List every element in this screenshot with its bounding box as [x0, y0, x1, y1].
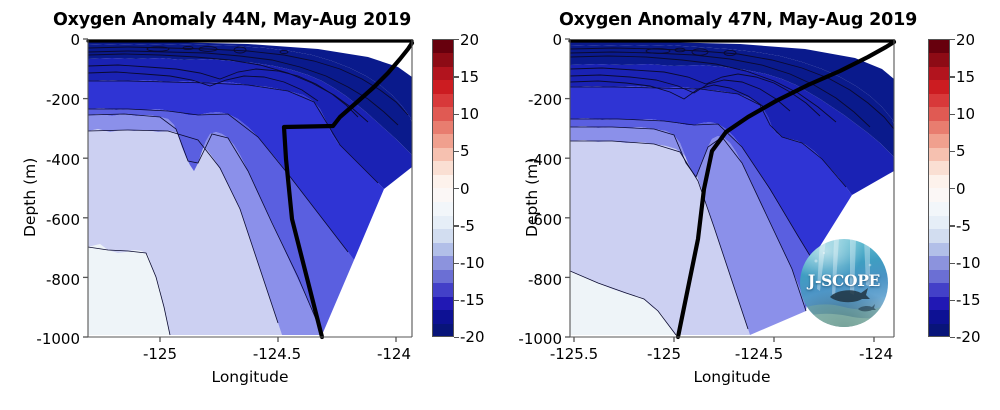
x-tick-label: -125.5 — [538, 345, 610, 363]
colorbar-tick-label: 5 — [956, 142, 996, 160]
colorbar-tick-label: 5 — [460, 142, 500, 160]
x-tick-label: -125 — [634, 345, 694, 363]
colorbar-tick-mark — [950, 114, 955, 115]
colorbar-tick-mark — [950, 300, 955, 301]
x-tick-label: -124 — [364, 345, 424, 363]
colorbar-tick-label: 10 — [956, 105, 996, 123]
y-tick-label: -1000 — [8, 330, 80, 348]
y-tick-label: -800 — [14, 271, 80, 289]
colorbar-tick-mark — [950, 337, 955, 338]
colorbar-tick-mark — [950, 225, 955, 226]
x-tick-label: -124.5 — [723, 345, 795, 363]
logo-label: J-SCOPE — [800, 271, 888, 290]
y-tick-label: -200 — [496, 91, 562, 109]
colorbar-tick-mark — [454, 300, 459, 301]
colorbar-tick-label: -10 — [460, 254, 500, 272]
y-tick-label: 0 — [496, 31, 562, 49]
colorbar-tick-label: 0 — [956, 180, 996, 198]
x-axis-label: Longitude — [570, 368, 894, 386]
colorbar-tick-label: -15 — [460, 291, 500, 309]
colorbar-tick-label: 20 — [956, 31, 996, 49]
page-title: Oxygen Anomaly 44N, May-Aug 2019 — [0, 10, 482, 30]
panel-oxygen-anomaly-44n: Oxygen Anomaly 44N, May-Aug 2019 Depth (… — [0, 0, 500, 410]
colorbar-tick-label: -20 — [956, 328, 996, 346]
colorbar-tick-mark — [950, 76, 955, 77]
colorbar-ticks-44n — [432, 39, 454, 337]
colorbar-tick-label: 20 — [460, 31, 500, 49]
y-tick-label: -600 — [14, 211, 80, 229]
y-tick-label: -800 — [496, 271, 562, 289]
colorbar-tick-label: -15 — [956, 291, 996, 309]
colorbar-tick-label: 15 — [956, 68, 996, 86]
section-plot-44n — [88, 39, 412, 337]
colorbar-tick-mark — [454, 188, 459, 189]
y-tick-label: -400 — [496, 151, 562, 169]
y-tick-label: 0 — [14, 31, 80, 49]
panel-oxygen-anomaly-47n: Oxygen Anomaly 47N, May-Aug 2019 Depth (… — [500, 0, 1000, 410]
x-tick-label: -124 — [846, 345, 906, 363]
colorbar-tick-label: 0 — [460, 180, 500, 198]
colorbar-tick-label: 10 — [460, 105, 500, 123]
colorbar-tick-mark — [454, 76, 459, 77]
page-title: Oxygen Anomaly 47N, May-Aug 2019 — [488, 10, 988, 30]
j-scope-logo: J-SCOPE — [800, 239, 888, 327]
colorbar-tick-mark — [454, 263, 459, 264]
colorbar-tick-mark — [950, 263, 955, 264]
plot-area-44n — [88, 39, 412, 337]
colorbar-tick-label: -5 — [956, 217, 996, 235]
colorbar-tick-mark — [950, 188, 955, 189]
y-tick-label: -600 — [496, 211, 562, 229]
colorbar-tick-mark — [454, 225, 459, 226]
colorbar-tick-mark — [950, 39, 955, 40]
x-tick-label: -124.5 — [241, 345, 313, 363]
colorbar-tick-mark — [950, 151, 955, 152]
colorbar-tick-label: -10 — [956, 254, 996, 272]
y-tick-label: -200 — [14, 91, 80, 109]
colorbar-tick-mark — [454, 39, 459, 40]
colorbar-tick-label: 15 — [460, 68, 500, 86]
colorbar-ticks-47n — [928, 39, 950, 337]
colorbar-tick-mark — [454, 337, 459, 338]
y-tick-label: -400 — [14, 151, 80, 169]
colorbar-tick-label: -5 — [460, 217, 500, 235]
figure-canvas: Oxygen Anomaly 44N, May-Aug 2019 Depth (… — [0, 0, 1000, 410]
x-tick-label: -125 — [130, 345, 190, 363]
x-axis-label: Longitude — [88, 368, 412, 386]
colorbar-tick-mark — [454, 151, 459, 152]
colorbar-tick-mark — [454, 114, 459, 115]
